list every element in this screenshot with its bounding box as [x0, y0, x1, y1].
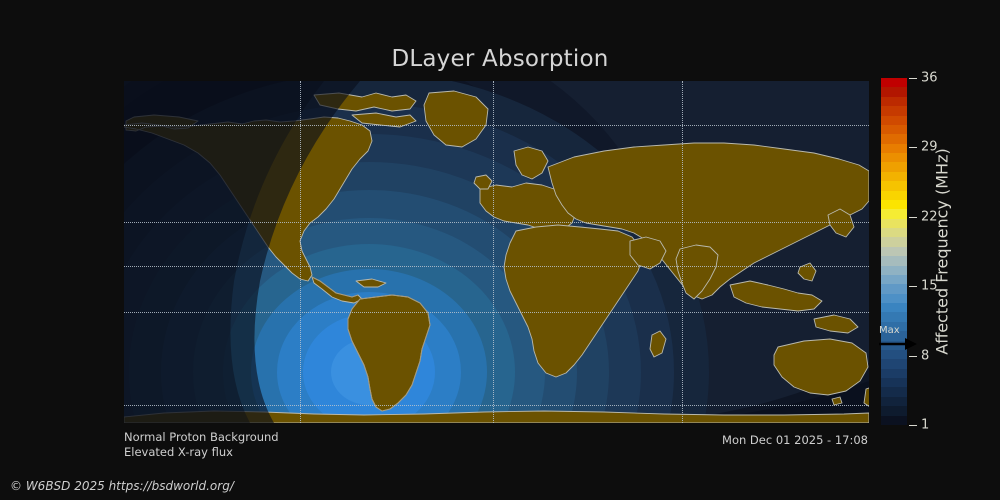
status-note-xray: Elevated X-ray flux — [124, 445, 233, 459]
colorbar-tick-mark — [909, 147, 917, 148]
colorbar-tick-mark — [909, 217, 917, 218]
colorbar-tick-label: 22 — [921, 209, 938, 224]
page-title: DLayer Absorption — [0, 46, 1000, 72]
colorbar-tick-mark — [909, 78, 917, 79]
colorbar-band — [881, 106, 907, 115]
colorbar-axis-label: Affected Frequency (MHz) — [930, 78, 954, 425]
land-tasmania — [832, 397, 842, 405]
colorbar-band — [881, 256, 907, 265]
colorbar-band — [881, 237, 907, 246]
colorbar-band — [881, 312, 907, 321]
colorbar-tick-label: 36 — [921, 71, 938, 86]
colorbar-band — [881, 134, 907, 143]
colorbar-band — [881, 228, 907, 237]
colorbar-gradient — [881, 78, 907, 425]
colorbar-band — [881, 397, 907, 406]
colorbar-band — [881, 200, 907, 209]
colorbar-tick-mark — [909, 356, 917, 357]
colorbar-band — [881, 294, 907, 303]
colorbar-band — [881, 275, 907, 284]
colorbar-band — [881, 369, 907, 378]
colorbar-band — [881, 144, 907, 153]
colorbar-tick-label: 8 — [921, 348, 929, 363]
colorbar-band — [881, 284, 907, 293]
dlayer-absorption-page: DLayer Absorption — [0, 0, 1000, 500]
colorbar-axis-label-text: Affected Frequency (MHz) — [933, 148, 952, 354]
colorbar-band — [881, 162, 907, 171]
colorbar-band — [881, 247, 907, 256]
colorbar-band — [881, 78, 907, 87]
colorbar-tick-label: 15 — [921, 279, 938, 294]
colorbar-band — [881, 303, 907, 312]
colorbar-tick-mark — [909, 425, 917, 426]
colorbar-band — [881, 153, 907, 162]
colorbar-band — [881, 172, 907, 181]
colorbar-band — [881, 116, 907, 125]
colorbar-band — [881, 191, 907, 200]
colorbar-band — [881, 266, 907, 275]
colorbar-tick-label: 1 — [921, 418, 929, 433]
colorbar-tick-mark — [909, 286, 917, 287]
max-marker: Max — [877, 326, 917, 352]
colorbar-band — [881, 209, 907, 218]
timestamp: Mon Dec 01 2025 - 17:08 — [722, 433, 868, 447]
colorbar-band — [881, 416, 907, 425]
colorbar-band — [881, 219, 907, 228]
status-note-proton: Normal Proton Background — [124, 430, 279, 444]
copyright-notice: © W6BSD 2025 https://bsdworld.org/ — [10, 479, 234, 493]
max-marker-label: Max — [879, 326, 900, 336]
colorbar-band — [881, 97, 907, 106]
colorbar-band — [881, 181, 907, 190]
colorbar-band — [881, 406, 907, 415]
colorbar[interactable] — [881, 78, 907, 425]
colorbar-band — [881, 359, 907, 368]
colorbar-band — [881, 378, 907, 387]
colorbar-band — [881, 125, 907, 134]
world-map-panel[interactable] — [124, 81, 869, 423]
colorbar-band — [881, 87, 907, 96]
colorbar-band — [881, 387, 907, 396]
world-map-graphic — [124, 81, 869, 423]
colorbar-tick-label: 29 — [921, 140, 938, 155]
